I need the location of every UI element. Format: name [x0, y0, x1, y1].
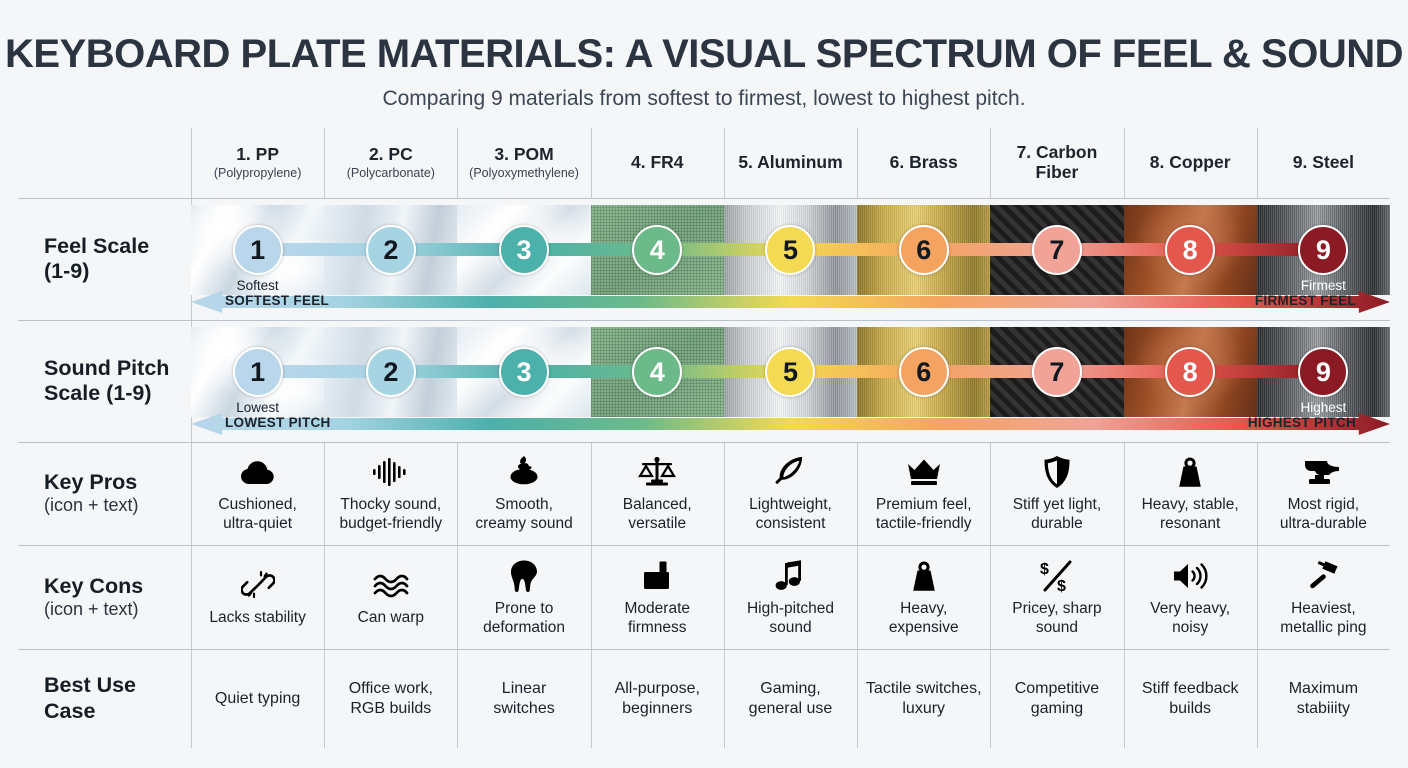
pros-cell-3: Smooth,creamy sound: [457, 442, 590, 545]
cons-cell-2: Can warp: [324, 545, 457, 649]
scale-circle-value: 7: [1032, 225, 1082, 275]
cons-cell-6: Heavy,expensive: [857, 545, 990, 649]
table-corner: [18, 128, 191, 198]
cons-text: Prone todeformation: [483, 600, 565, 638]
usecase-cell-2: Office work,RGB builds: [324, 649, 457, 748]
materials-table: 1. PP(Polypropylene)2. PC(Polycarbonate)…: [18, 128, 1390, 760]
scale-point-6[interactable]: 6: [857, 205, 990, 295]
pros-text: Premium feel,tactile-friendly: [876, 496, 972, 534]
scale-arrow-bar: SOFTEST FEELFIRMEST FEEL: [191, 289, 1390, 315]
scale-circle-value: 2: [366, 347, 416, 397]
weight-icon: [1174, 453, 1206, 491]
column-header-9: 9. Steel: [1257, 128, 1390, 198]
pros-text: Heavy, stable,resonant: [1142, 496, 1239, 534]
column-header-2: 2. PC(Polycarbonate): [324, 128, 457, 198]
usecase-text: Stiff feedbackbuilds: [1142, 679, 1239, 719]
scale-point-7[interactable]: 7: [990, 327, 1123, 417]
scale-circle-value: 5: [765, 347, 815, 397]
anvil-icon: [1303, 453, 1343, 491]
page-title: KEYBOARD PLATE MATERIALS: A VISUAL SPECT…: [0, 0, 1408, 75]
scale-point-2[interactable]: 2: [324, 327, 457, 417]
cons-text: Moderatefirmness: [625, 600, 690, 638]
plug-icon: [642, 557, 672, 595]
dollar-slash-icon: $$: [1039, 557, 1075, 595]
column-header-1: 1. PP(Polypropylene): [191, 128, 324, 198]
scale-circle-value: 8: [1165, 347, 1215, 397]
usecase-cell-5: Gaming,general use: [724, 649, 857, 748]
pros-cell-9: Most rigid,ultra-durable: [1257, 442, 1390, 545]
scale-circles: 1Lowest23456789Highest: [191, 327, 1390, 417]
cons-text: Lacks stability: [209, 609, 305, 628]
swirl-icon: [508, 453, 540, 491]
pros-text: Thocky sound,budget-friendly: [340, 496, 443, 534]
scale-arrow-bar: LOWEST PITCHHIGHEST PITCH: [191, 411, 1390, 437]
shield-icon: [1043, 453, 1071, 491]
broken-link-icon: [241, 566, 275, 604]
usecase-cell-9: Maximumstabiiity: [1257, 649, 1390, 748]
row-label-line1: Sound Pitch: [44, 356, 191, 381]
row-label-line1: Best Use Case: [44, 673, 191, 724]
row-label-line2: (icon + text): [44, 599, 191, 621]
cons-text: Can warp: [358, 609, 424, 628]
svg-text:$: $: [1040, 561, 1049, 578]
row-label-line2: (icon + text): [44, 495, 191, 517]
column-header-name: 7. Carbon Fiber: [993, 143, 1120, 182]
usecase-cell-4: All-purpose,beginners: [591, 649, 724, 748]
scale-band-feel: 1Softest23456789FirmestSOFTEST FEELFIRME…: [191, 198, 1390, 320]
scale-circle-value: 9: [1298, 347, 1348, 397]
row-label-line2: (1-9): [44, 259, 191, 284]
row-label-pros: Key Pros(icon + text): [18, 442, 191, 545]
arrow-right-label: HIGHEST PITCH: [1248, 415, 1356, 430]
column-header-name: 9. Steel: [1293, 153, 1354, 173]
scale-circle-value: 4: [632, 347, 682, 397]
scale-point-8[interactable]: 8: [1124, 205, 1257, 295]
row-label-line1: Key Pros: [44, 470, 191, 495]
row-label-line2: Scale (1-9): [44, 381, 191, 406]
scale-circle-value: 1: [233, 225, 283, 275]
crown-icon: [905, 453, 943, 491]
usecase-text: Competitivegaming: [1015, 679, 1099, 719]
scale-circle-value: 8: [1165, 225, 1215, 275]
usecase-cell-6: Tactile switches,luxury: [857, 649, 990, 748]
waves-icon: [372, 566, 410, 604]
row-label-line1: Feel Scale: [44, 234, 191, 259]
column-header-name: 6. Brass: [890, 153, 958, 173]
column-header-5: 5. Aluminum: [724, 128, 857, 198]
scale-point-3[interactable]: 3: [457, 327, 590, 417]
usecase-cell-1: Quiet typing: [191, 649, 324, 748]
column-header-3: 3. POM(Polyoxymethylene): [457, 128, 590, 198]
pros-cell-2: Thocky sound,budget-friendly: [324, 442, 457, 545]
column-header-6: 6. Brass: [857, 128, 990, 198]
pros-cell-4: Balanced,versatile: [591, 442, 724, 545]
scales-icon: [638, 453, 676, 491]
scale-point-4[interactable]: 4: [591, 327, 724, 417]
pros-text: Balanced,versatile: [623, 496, 692, 534]
cons-cell-5: High-pitchedsound: [724, 545, 857, 649]
column-header-4: 4. FR4: [591, 128, 724, 198]
scale-circle-value: 3: [499, 347, 549, 397]
row-label-usecase: Best Use Case: [18, 649, 191, 748]
scale-circle-value: 6: [899, 347, 949, 397]
scale-point-5[interactable]: 5: [724, 327, 857, 417]
speaker-loud-icon: [1172, 557, 1208, 595]
row-label-feel: Feel Scale(1-9): [18, 198, 191, 320]
column-header-name: 1. PP: [236, 145, 279, 165]
usecase-cell-3: Linearswitches: [457, 649, 590, 748]
svg-text:$: $: [1057, 578, 1066, 593]
column-header-7: 7. Carbon Fiber: [990, 128, 1123, 198]
column-header-name: 5. Aluminum: [738, 153, 842, 173]
cons-cell-7: $$Pricey, sharpsound: [990, 545, 1123, 649]
column-header-name: 4. FR4: [631, 153, 684, 173]
pros-text: Smooth,creamy sound: [475, 496, 572, 534]
usecase-text: Office work,RGB builds: [349, 679, 433, 719]
pros-cell-5: Lightweight,consistent: [724, 442, 857, 545]
scale-point-9[interactable]: 9Highest: [1257, 327, 1390, 417]
row-label-line1: Key Cons: [44, 574, 191, 599]
column-header-name: 2. PC: [369, 145, 413, 165]
usecase-cell-8: Stiff feedbackbuilds: [1124, 649, 1257, 748]
scale-point-2[interactable]: 2: [324, 205, 457, 295]
cons-text: Heaviest,metallic ping: [1280, 600, 1366, 638]
hammer-icon: [1306, 557, 1340, 595]
scale-circle-value: 1: [233, 347, 283, 397]
music-note-icon: [775, 557, 805, 595]
feather-icon: [774, 453, 806, 491]
scale-band-sound: 1Lowest23456789HighestLOWEST PITCHHIGHES…: [191, 320, 1390, 442]
cons-cell-4: Moderatefirmness: [591, 545, 724, 649]
usecase-text: Linearswitches: [493, 679, 554, 719]
usecase-text: All-purpose,beginners: [615, 679, 700, 719]
pros-text: Stiff yet light,durable: [1013, 496, 1101, 534]
cloud-icon: [239, 453, 277, 491]
scale-circle-value: 7: [1032, 347, 1082, 397]
scale-circle-value: 4: [632, 225, 682, 275]
scale-circle-value: 2: [366, 225, 416, 275]
row-label-sound: Sound PitchScale (1-9): [18, 320, 191, 442]
column-header-8: 8. Copper: [1124, 128, 1257, 198]
cons-text: Pricey, sharpsound: [1012, 600, 1101, 638]
cons-text: Heavy,expensive: [889, 600, 959, 638]
scale-point-1[interactable]: 1Lowest: [191, 327, 324, 417]
cons-cell-1: Lacks stability: [191, 545, 324, 649]
scale-point-8[interactable]: 8: [1124, 327, 1257, 417]
cons-text: Very heavy,noisy: [1150, 600, 1230, 638]
pros-cell-7: Stiff yet light,durable: [990, 442, 1123, 545]
cons-cell-8: Very heavy,noisy: [1124, 545, 1257, 649]
scale-circles: 1Softest23456789Firmest: [191, 205, 1390, 295]
column-header-name: 8. Copper: [1150, 153, 1231, 173]
usecase-text: Quiet typing: [215, 689, 300, 709]
usecase-text: Gaming,general use: [749, 679, 833, 719]
infographic-page: KEYBOARD PLATE MATERIALS: A VISUAL SPECT…: [0, 0, 1408, 768]
usecase-cell-7: Competitivegaming: [990, 649, 1123, 748]
weight-icon: [908, 557, 940, 595]
cons-text: High-pitchedsound: [747, 600, 834, 638]
waveform-icon: [371, 453, 411, 491]
scale-circle-value: 5: [765, 225, 815, 275]
arrow-left-label: SOFTEST FEEL: [225, 293, 329, 308]
pros-text: Most rigid,ultra-durable: [1280, 496, 1367, 534]
scale-point-1[interactable]: 1Softest: [191, 205, 324, 295]
usecase-text: Maximumstabiiity: [1289, 679, 1358, 719]
column-header-sub: (Polypropylene): [214, 167, 302, 181]
melting-icon: [508, 557, 540, 595]
page-subtitle: Comparing 9 materials from softest to fi…: [0, 87, 1408, 111]
scale-point-5[interactable]: 5: [724, 205, 857, 295]
scale-point-6[interactable]: 6: [857, 327, 990, 417]
row-label-cons: Key Cons(icon + text): [18, 545, 191, 649]
scale-point-3[interactable]: 3: [457, 205, 590, 295]
cons-cell-9: Heaviest,metallic ping: [1257, 545, 1390, 649]
column-header-sub: (Polycarbonate): [347, 167, 435, 181]
usecase-text: Tactile switches,luxury: [866, 679, 982, 719]
column-header-sub: (Polyoxymethylene): [469, 167, 579, 181]
scale-circle-value: 3: [499, 225, 549, 275]
arrow-right-label: FIRMEST FEEL: [1255, 293, 1356, 308]
scale-circle-value: 6: [899, 225, 949, 275]
cons-cell-3: Prone todeformation: [457, 545, 590, 649]
scale-point-4[interactable]: 4: [591, 205, 724, 295]
pros-text: Lightweight,consistent: [749, 496, 832, 534]
arrow-left-label: LOWEST PITCH: [225, 415, 331, 430]
scale-point-7[interactable]: 7: [990, 205, 1123, 295]
pros-cell-6: Premium feel,tactile-friendly: [857, 442, 990, 545]
scale-circle-value: 9: [1298, 225, 1348, 275]
pros-cell-8: Heavy, stable,resonant: [1124, 442, 1257, 545]
pros-text: Cushioned,ultra-quiet: [218, 496, 296, 534]
pros-cell-1: Cushioned,ultra-quiet: [191, 442, 324, 545]
scale-point-9[interactable]: 9Firmest: [1257, 205, 1390, 295]
column-header-name: 3. POM: [494, 145, 553, 165]
